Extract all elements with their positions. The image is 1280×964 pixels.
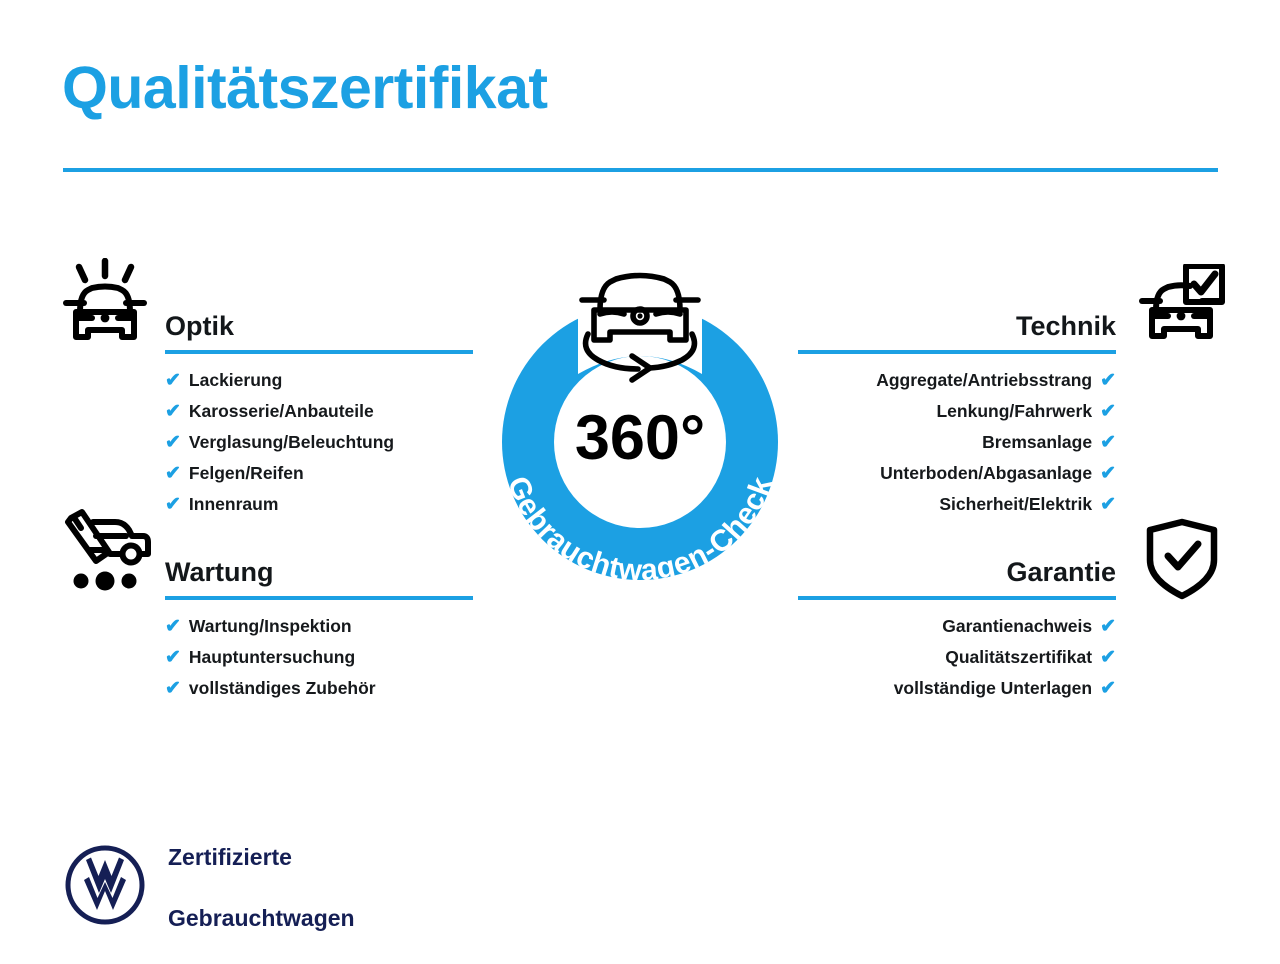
section-wartung-divider	[165, 596, 473, 600]
section-wartung-items: ✔ Wartung/Inspektion ✔ Hauptuntersuchung…	[165, 617, 473, 698]
section-wartung-header: Wartung	[165, 542, 473, 586]
check-icon: ✔	[1100, 371, 1116, 390]
list-item-label: vollständige Unterlagen	[894, 680, 1092, 698]
check-icon: ✔	[1100, 402, 1116, 421]
list-item-label: Wartung/Inspektion	[189, 618, 352, 636]
check-icon: ✔	[165, 495, 181, 514]
list-item-label: Hauptuntersuchung	[189, 649, 355, 667]
check-icon: ✔	[165, 371, 181, 390]
footer-text-line1: Zertifizierte	[168, 842, 355, 872]
list-item-label: Garantienachweis	[942, 618, 1092, 636]
list-item: Garantienachweis ✔	[798, 617, 1116, 636]
check-icon: ✔	[1100, 495, 1116, 514]
page-title: Qualitätszertifikat	[62, 58, 548, 120]
footer-branding: Zertifizierte Gebrauchtwagen	[64, 812, 355, 964]
check-icon: ✔	[1100, 648, 1116, 667]
list-item: ✔ vollständiges Zubehör	[165, 679, 473, 698]
gebrauchtwagen-check-badge: Gebrauchtwagen-Check 360°	[466, 246, 814, 632]
list-item-label: Qualitätszertifikat	[945, 649, 1092, 667]
list-item: ✔ Hauptuntersuchung	[165, 648, 473, 667]
section-garantie-header: Garantie	[798, 542, 1116, 586]
check-icon: ✔	[1100, 679, 1116, 698]
list-item: ✔ Lackierung	[165, 371, 473, 390]
check-icon: ✔	[165, 433, 181, 452]
section-technik-items: Aggregate/Antriebsstrang ✔ Lenkung/Fahrw…	[798, 371, 1116, 514]
check-icon: ✔	[1100, 433, 1116, 452]
list-item: Lenkung/Fahrwerk ✔	[798, 402, 1116, 421]
check-icon: ✔	[165, 617, 181, 636]
section-garantie-divider	[798, 596, 1116, 600]
vw-logo-icon	[64, 844, 146, 931]
check-icon: ✔	[1100, 464, 1116, 483]
footer-text-line2: Gebrauchtwagen	[168, 903, 355, 933]
section-technik: Technik Aggregate/Antriebsstrang ✔ Lenku…	[798, 296, 1116, 526]
car-front-shine-icon	[62, 258, 148, 355]
section-garantie: Garantie Garantienachweis ✔ Qualitätszer…	[798, 542, 1116, 710]
section-technik-divider	[798, 350, 1116, 354]
section-technik-title: Technik	[1016, 313, 1116, 340]
list-item-label: Lackierung	[189, 372, 282, 390]
check-icon: ✔	[165, 402, 181, 421]
check-icon: ✔	[165, 464, 181, 483]
list-item-label: Aggregate/Antriebsstrang	[876, 372, 1092, 390]
list-item: ✔ Karosserie/Anbauteile	[165, 402, 473, 421]
section-garantie-items: Garantienachweis ✔ Qualitätszertifikat ✔…	[798, 617, 1116, 698]
section-technik-header: Technik	[798, 296, 1116, 340]
section-garantie-title: Garantie	[1006, 559, 1116, 586]
check-icon: ✔	[165, 648, 181, 667]
list-item: Aggregate/Antriebsstrang ✔	[798, 371, 1116, 390]
list-item: Sicherheit/Elektrik ✔	[798, 495, 1116, 514]
section-optik-items: ✔ Lackierung ✔ Karosserie/Anbauteile ✔ V…	[165, 371, 473, 514]
check-icon: ✔	[1100, 617, 1116, 636]
shield-check-icon	[1144, 518, 1220, 605]
list-item: Bremsanlage ✔	[798, 433, 1116, 452]
section-optik-title: Optik	[165, 313, 234, 340]
section-optik-divider	[165, 350, 473, 354]
car-checkbox-icon	[1136, 264, 1226, 353]
header-divider	[63, 168, 1218, 172]
list-item: vollständige Unterlagen ✔	[798, 679, 1116, 698]
section-wartung: Wartung ✔ Wartung/Inspektion ✔ Hauptunte…	[165, 542, 473, 710]
list-item-label: Felgen/Reifen	[189, 465, 304, 483]
list-item: ✔ Wartung/Inspektion	[165, 617, 473, 636]
list-item-label: Lenkung/Fahrwerk	[936, 403, 1092, 421]
list-item: ✔ Innenraum	[165, 495, 473, 514]
list-item: Qualitätszertifikat ✔	[798, 648, 1116, 667]
section-wartung-title: Wartung	[165, 559, 273, 586]
list-item: ✔ Verglasung/Beleuchtung	[165, 433, 473, 452]
list-item: ✔ Felgen/Reifen	[165, 464, 473, 483]
list-item-label: Bremsanlage	[982, 434, 1092, 452]
list-item-label: Karosserie/Anbauteile	[189, 403, 374, 421]
list-item-label: Verglasung/Beleuchtung	[189, 434, 394, 452]
list-item: Unterboden/Abgasanlage ✔	[798, 464, 1116, 483]
list-item-label: Sicherheit/Elektrik	[939, 496, 1092, 514]
badge-center-text: 360°	[575, 403, 705, 473]
list-item-label: Unterboden/Abgasanlage	[880, 465, 1092, 483]
section-optik-header: Optik	[165, 296, 473, 340]
section-optik: Optik ✔ Lackierung ✔ Karosserie/Anbautei…	[165, 296, 473, 526]
list-item-label: vollständiges Zubehör	[189, 680, 376, 698]
list-item-label: Innenraum	[189, 496, 278, 514]
certificate-page: Qualitätszertifikat Optik	[0, 0, 1280, 960]
check-icon: ✔	[165, 679, 181, 698]
pencil-car-service-icon	[60, 508, 152, 599]
footer-text: Zertifizierte Gebrauchtwagen	[168, 812, 355, 964]
